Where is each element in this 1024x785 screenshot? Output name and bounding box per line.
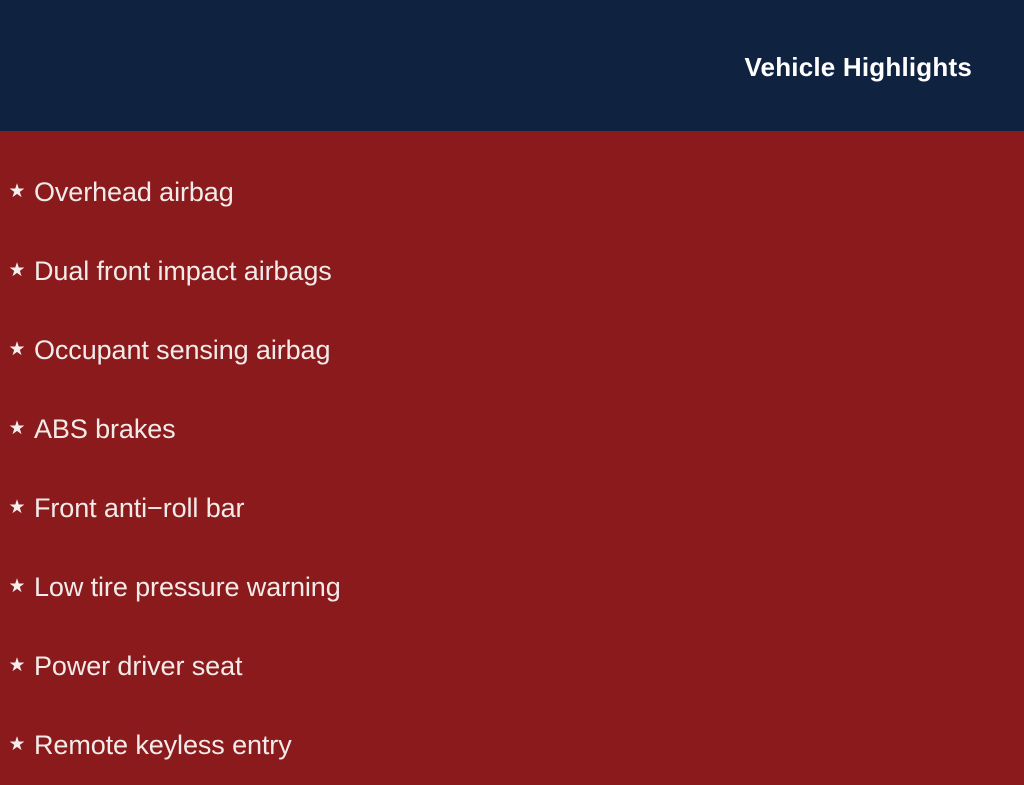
list-item: ★ Power driver seat: [0, 627, 1024, 706]
star-icon: ★: [0, 261, 34, 280]
star-icon: ★: [0, 498, 34, 517]
list-item: ★ Front anti−roll bar: [0, 469, 1024, 548]
highlights-body: ★ Overhead airbag ★ Dual front impact ai…: [0, 131, 1024, 768]
list-item-label: Overhead airbag: [34, 179, 234, 206]
list-item: ★ Occupant sensing airbag: [0, 311, 1024, 390]
list-item-label: Occupant sensing airbag: [34, 337, 330, 364]
list-item: ★ Low tire pressure warning: [0, 548, 1024, 627]
star-icon: ★: [0, 577, 34, 596]
list-item: ★ Remote keyless entry: [0, 706, 1024, 785]
list-item: ★ ABS brakes: [0, 390, 1024, 469]
list-item-label: Dual front impact airbags: [34, 258, 332, 285]
vehicle-highlights-list: ★ Overhead airbag ★ Dual front impact ai…: [0, 153, 1024, 785]
list-item: ★ Overhead airbag: [0, 153, 1024, 232]
header-band: Vehicle Highlights: [0, 0, 1024, 131]
list-item: ★ Dual front impact airbags: [0, 232, 1024, 311]
list-item-label: Power driver seat: [34, 653, 242, 680]
page-title: Vehicle Highlights: [744, 54, 972, 80]
vehicle-highlights-slide: Vehicle Highlights ★ Overhead airbag ★ D…: [0, 0, 1024, 768]
list-item-label: ABS brakes: [34, 416, 176, 443]
list-item-label: Remote keyless entry: [34, 732, 292, 759]
star-icon: ★: [0, 735, 34, 754]
list-item-label: Front anti−roll bar: [34, 495, 244, 522]
list-item-label: Low tire pressure warning: [34, 574, 341, 601]
star-icon: ★: [0, 182, 34, 201]
star-icon: ★: [0, 340, 34, 359]
star-icon: ★: [0, 419, 34, 438]
star-icon: ★: [0, 656, 34, 675]
